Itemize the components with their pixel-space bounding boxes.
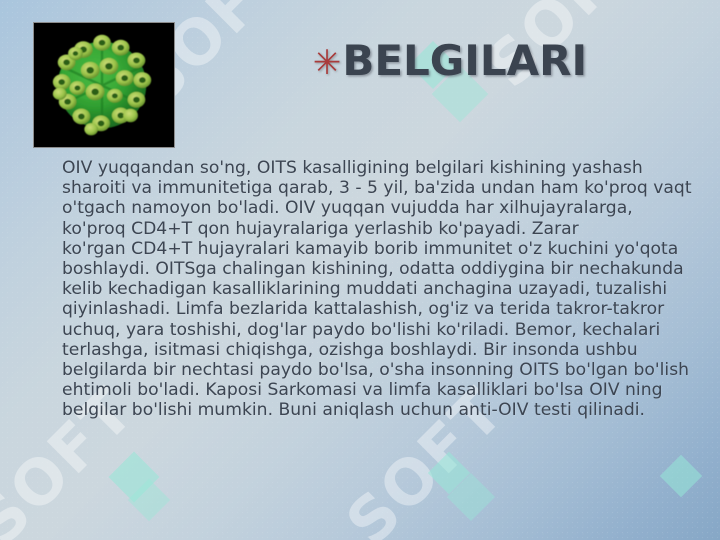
page-title: BELGILARI <box>342 36 587 85</box>
virus-illustration <box>34 23 174 147</box>
presentation-slide: SOFT SOFT SOFT SOFT <box>0 0 720 540</box>
asterisk-bullet-icon: ✳ <box>313 46 342 80</box>
slide-title: ✳BELGILARI <box>200 36 700 85</box>
hiv-virus-image <box>33 22 175 148</box>
watermark-logo-icon <box>660 455 720 535</box>
watermark-logo-icon <box>108 455 198 540</box>
slide-body-text: OIV yuqqandan so'ng, OITS kasalligining … <box>62 158 694 421</box>
watermark-logo-icon <box>424 452 514 540</box>
